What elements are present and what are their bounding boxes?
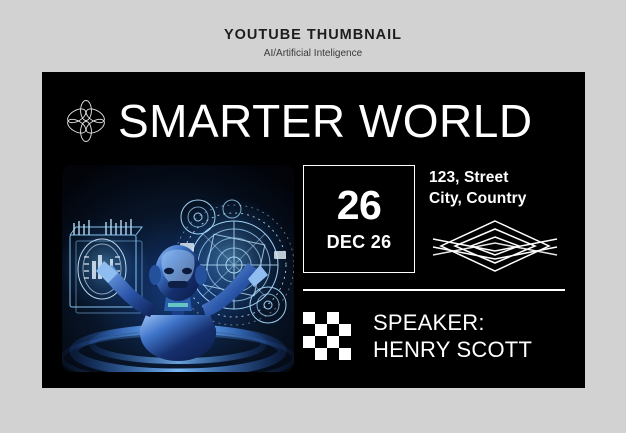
speaker-text: SPEAKER: HENRY SCOTT bbox=[373, 309, 532, 363]
address-block: 123, Street City, Country bbox=[429, 167, 565, 209]
speaker-label: SPEAKER: bbox=[373, 309, 532, 336]
section-divider bbox=[303, 289, 565, 291]
poster-title-row: SMARTER WORLD bbox=[42, 90, 585, 152]
address-line-2: City, Country bbox=[429, 188, 565, 209]
poster-headline: SMARTER WORLD bbox=[118, 96, 533, 146]
page-subtitle: AI/Artificial Inteligence bbox=[0, 46, 626, 62]
date-day: 26 bbox=[337, 185, 382, 225]
ai-robot-hologram-image bbox=[62, 165, 294, 372]
flower-icon bbox=[64, 99, 108, 143]
poster-details: 26 DEC 26 123, Street City, Country bbox=[303, 165, 565, 372]
address-line-1: 123, Street bbox=[429, 167, 565, 188]
poster-card: SMARTER WORLD bbox=[42, 72, 585, 388]
speaker-block: SPEAKER: HENRY SCOTT bbox=[303, 309, 565, 363]
page-header: YOUTUBE THUMBNAIL AI/Artificial Intelige… bbox=[0, 26, 626, 62]
page-title: YOUTUBE THUMBNAIL bbox=[0, 26, 626, 44]
speaker-name: HENRY SCOTT bbox=[373, 336, 532, 363]
date-month: DEC 26 bbox=[327, 231, 392, 253]
checkerboard-icon bbox=[303, 312, 351, 360]
date-box: 26 DEC 26 bbox=[303, 165, 415, 273]
layered-diamond-icon bbox=[431, 217, 559, 275]
